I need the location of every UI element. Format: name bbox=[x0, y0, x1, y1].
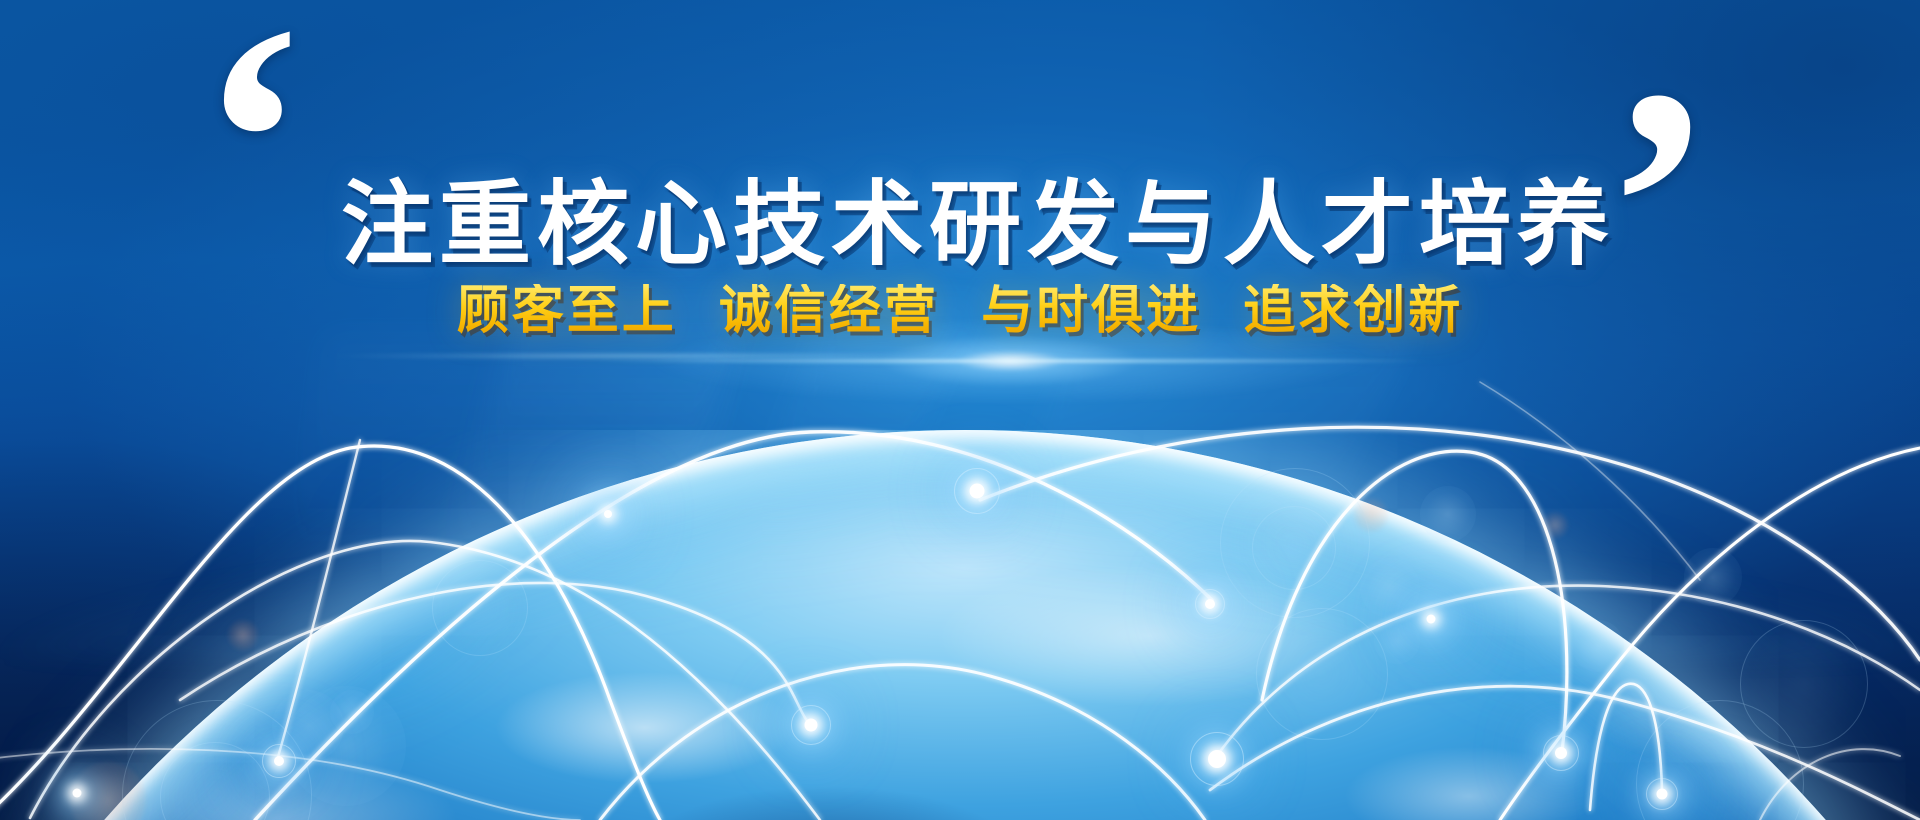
banner-headline: 注重核心技术研发与人才培养 bbox=[0, 178, 1920, 272]
banner-subtitle: 顾客至上 诚信经营 与时俱进 追求创新 bbox=[0, 284, 1920, 339]
promo-banner: ‘ ’ 注重核心技术研发与人才培养 顾客至上 诚信经营 与时俱进 追求创新 bbox=[0, 0, 1920, 820]
